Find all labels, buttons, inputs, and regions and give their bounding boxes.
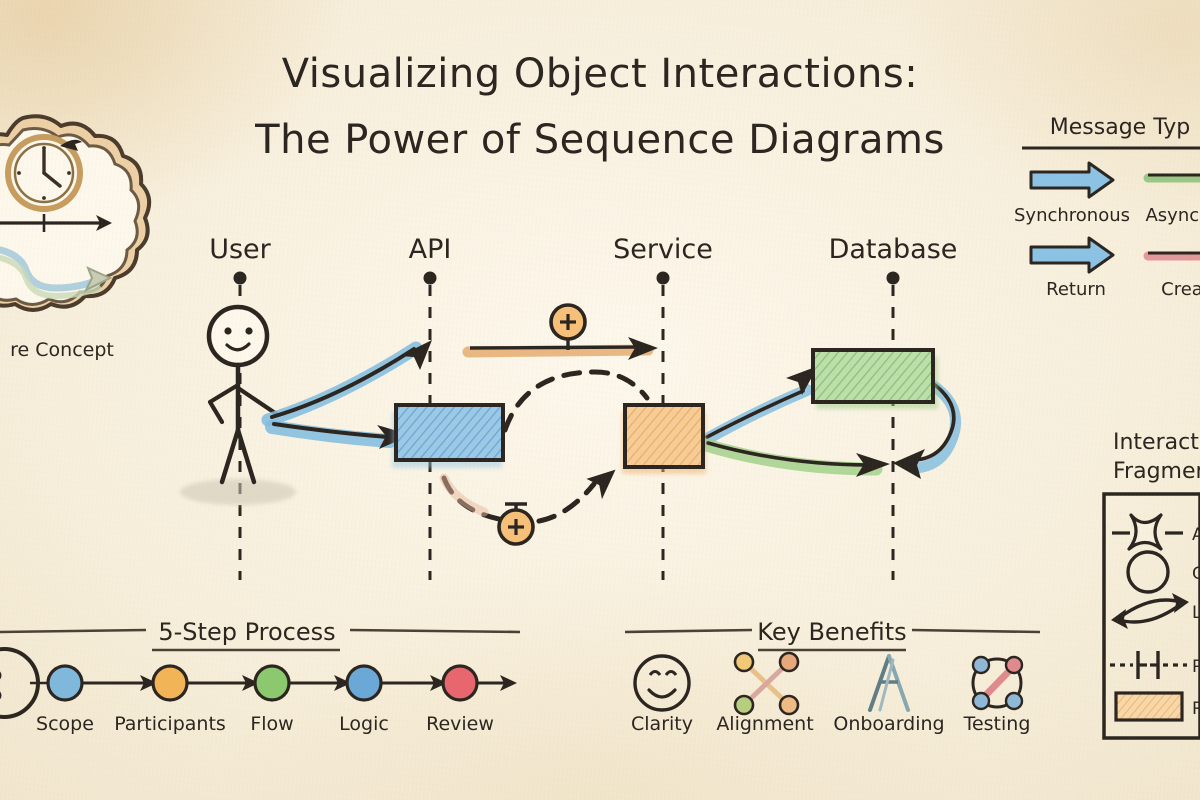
ladder-a-icon [870, 656, 908, 710]
legend-arrow-return [1031, 238, 1113, 272]
fragments-title-line2: Fragmen [1113, 459, 1200, 484]
lifeline-database [887, 272, 900, 581]
legend-label-return: Return [1046, 279, 1106, 300]
participant-label-service: Service [613, 234, 713, 265]
interaction-fragments-box [1104, 494, 1200, 738]
participant-label-api: API [409, 234, 452, 265]
activation-service [622, 405, 706, 474]
diagram-svg: Visualizing Object Interactions: The Pow… [0, 0, 1200, 800]
cross-nodes-icon [735, 653, 798, 714]
participant-label-user: User [209, 234, 271, 265]
message-service-database-sync [705, 366, 818, 440]
smiley-face-icon [635, 656, 689, 710]
benefit-label-testing: Testing [963, 713, 1031, 735]
legend-arrow-asynchronous [1148, 175, 1200, 178]
process-step-label-review: Review [426, 713, 494, 735]
fragments-title-line1: Interact [1113, 430, 1199, 455]
message-service-database-async [706, 443, 890, 477]
fragment-label-opt: O [1192, 564, 1200, 584]
process-step-label-flow: Flow [250, 713, 293, 735]
opt-circle-icon [1128, 552, 1168, 592]
core-concept-badge [0, 116, 149, 310]
message-api-service-async-lower [444, 463, 616, 522]
circle-diagonal-icon [973, 657, 1022, 709]
fragment-label-loop: L [1192, 603, 1200, 623]
legend-label-asynchronous: Asynch [1145, 205, 1200, 226]
page-title-line2: The Power of Sequence Diagrams [254, 117, 945, 163]
fragment-label-ref: R [1192, 699, 1200, 719]
fragment-label-alt: A [1192, 525, 1200, 545]
plus-marker-lower [499, 504, 533, 544]
page-title-line1: Visualizing Object Interactions: [282, 51, 918, 97]
loop-arrows-icon [1111, 593, 1189, 629]
legend-label-synchronous: Synchronous [1014, 205, 1130, 226]
message-user-api-sync-2 [272, 424, 411, 449]
plus-marker-upper [551, 305, 585, 350]
activation-api [392, 405, 503, 468]
legend-label-create: Crea [1161, 279, 1200, 300]
process-title: 5-Step Process [158, 618, 335, 646]
activation-database [813, 350, 938, 409]
core-concept-label: re Concept [10, 339, 114, 361]
benefit-label-onboarding: Onboarding [833, 713, 944, 735]
legend-arrow-synchronous [1031, 163, 1113, 197]
fragment-label-par: P [1192, 657, 1200, 677]
participant-label-database: Database [829, 234, 958, 265]
benefit-label-alignment: Alignment [716, 713, 813, 735]
benefit-label-clarity: Clarity [631, 713, 693, 735]
process-step-label-participants: Participants [114, 713, 226, 735]
benefits-title: Key Benefits [757, 618, 906, 646]
message-api-service-create [468, 337, 658, 360]
process-step-label-logic: Logic [339, 713, 389, 735]
ref-box-icon [1116, 693, 1182, 720]
legend-arrow-create [1148, 253, 1200, 256]
alt-star-icon [1112, 515, 1183, 549]
actor-stick-figure [180, 307, 296, 505]
process-step-label-scope: Scope [36, 713, 94, 735]
whiteboard-canvas: Visualizing Object Interactions: The Pow… [0, 0, 1200, 800]
message-types-title: Message Typ [1050, 115, 1190, 140]
par-dashed-icon [1110, 651, 1187, 679]
